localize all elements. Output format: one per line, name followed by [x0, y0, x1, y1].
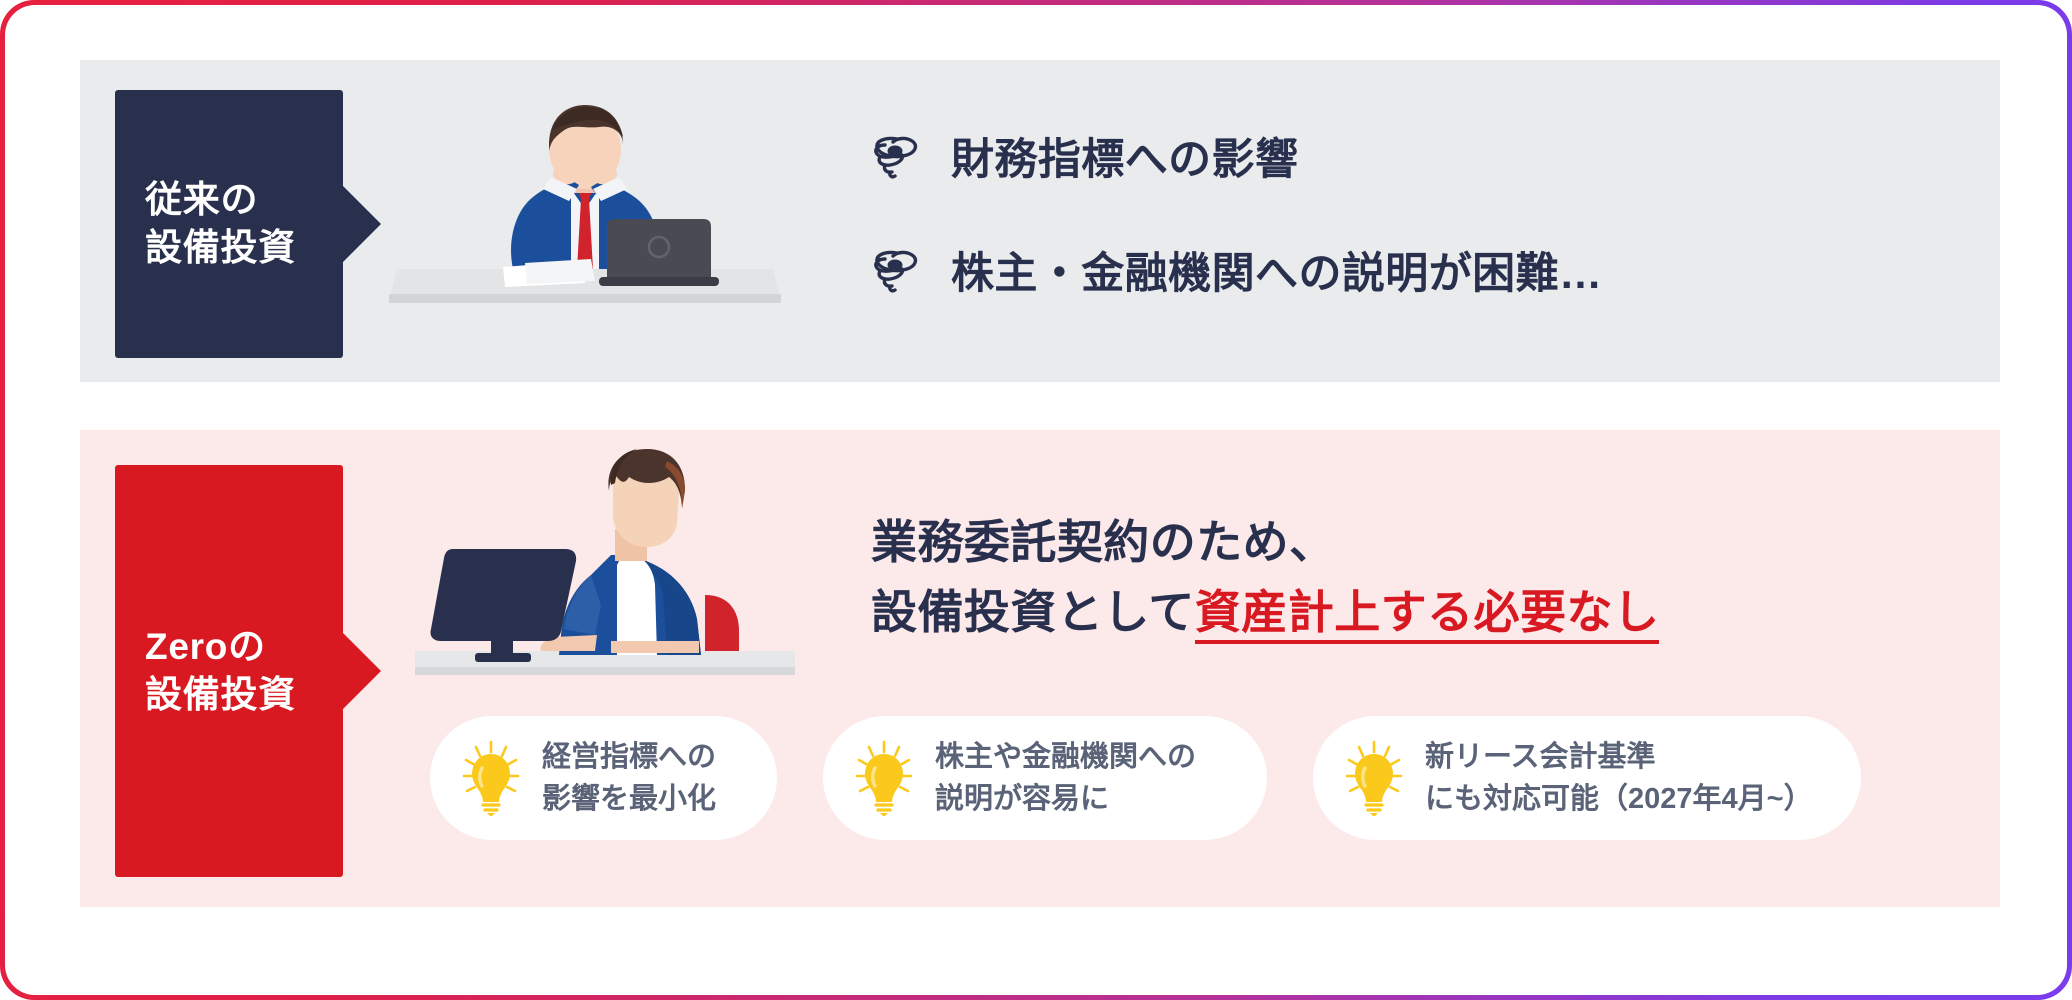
bullet-label: 株主・金融機関への説明が困難… [951, 239, 1602, 301]
headline-emphasis: 資産計上する必要なし [1195, 586, 1660, 644]
lightbulb-icon [462, 740, 520, 816]
pill-line-1: 株主や金融機関への [935, 736, 1196, 778]
man-at-computer-illustration [405, 445, 805, 685]
plaque-arrow-icon [343, 186, 381, 262]
headline-prefix: 設備投資として [871, 586, 1195, 638]
bullet-item: 株主・金融機関への説明が困難… [871, 239, 1602, 301]
old-plaque-line-2: 設備投資 [145, 224, 296, 272]
headline-line-2: 設備投資として資産計上する必要なし [871, 578, 1659, 648]
benefit-pill: 株主や金融機関への 説明が容易に [823, 716, 1267, 840]
stressed-businessman-illustration [385, 101, 785, 311]
lightbulb-icon [855, 740, 913, 816]
tangled-scribble-icon [871, 133, 923, 179]
zero-plaque-line-2: 設備投資 [145, 671, 296, 719]
zero-investment-plaque: Zeroの 設備投資 [115, 465, 343, 877]
page-gradient-frame: 従来の 設備投資 [0, 0, 2072, 1000]
page-canvas: 従来の 設備投資 [5, 5, 2067, 995]
lightbulb-icon [1345, 740, 1403, 816]
pill-line-1: 経営指標への [542, 736, 716, 778]
old-investment-plaque: 従来の 設備投資 [115, 90, 343, 358]
bullet-item: 財務指標への影響 [871, 125, 1602, 187]
old-plaque-line-1: 従来の [145, 176, 258, 224]
headline-line-1: 業務委託契約のため、 [871, 508, 1659, 578]
pill-line-2: 影響を最小化 [542, 778, 716, 820]
benefit-pill-list: 経営指標への 影響を最小化 [430, 716, 1861, 840]
benefit-pill-label: 株主や金融機関への 説明が容易に [935, 736, 1196, 821]
benefit-pill-label: 新リース会計基準 にも対応可能（2027年4月~） [1425, 736, 1813, 821]
benefit-pill: 経営指標への 影響を最小化 [430, 716, 777, 840]
bullet-label: 財務指標への影響 [951, 125, 1298, 187]
plaque-arrow-icon [343, 633, 381, 709]
benefit-pill-label: 経営指標への 影響を最小化 [542, 736, 716, 821]
tangled-scribble-icon [871, 247, 923, 293]
pill-line-1: 新リース会計基準 [1425, 736, 1813, 778]
zero-investment-headline: 業務委託契約のため、 設備投資として資産計上する必要なし [871, 508, 1659, 648]
zero-plaque-line-1: Zeroの [145, 623, 266, 671]
old-investment-bullet-list: 財務指標への影響 株主・金融機関への説明が困難… [871, 125, 1602, 301]
pill-line-2: にも対応可能（2027年4月~） [1425, 778, 1813, 820]
benefit-pill: 新リース会計基準 にも対応可能（2027年4月~） [1313, 716, 1861, 840]
pill-line-2: 説明が容易に [935, 778, 1196, 820]
